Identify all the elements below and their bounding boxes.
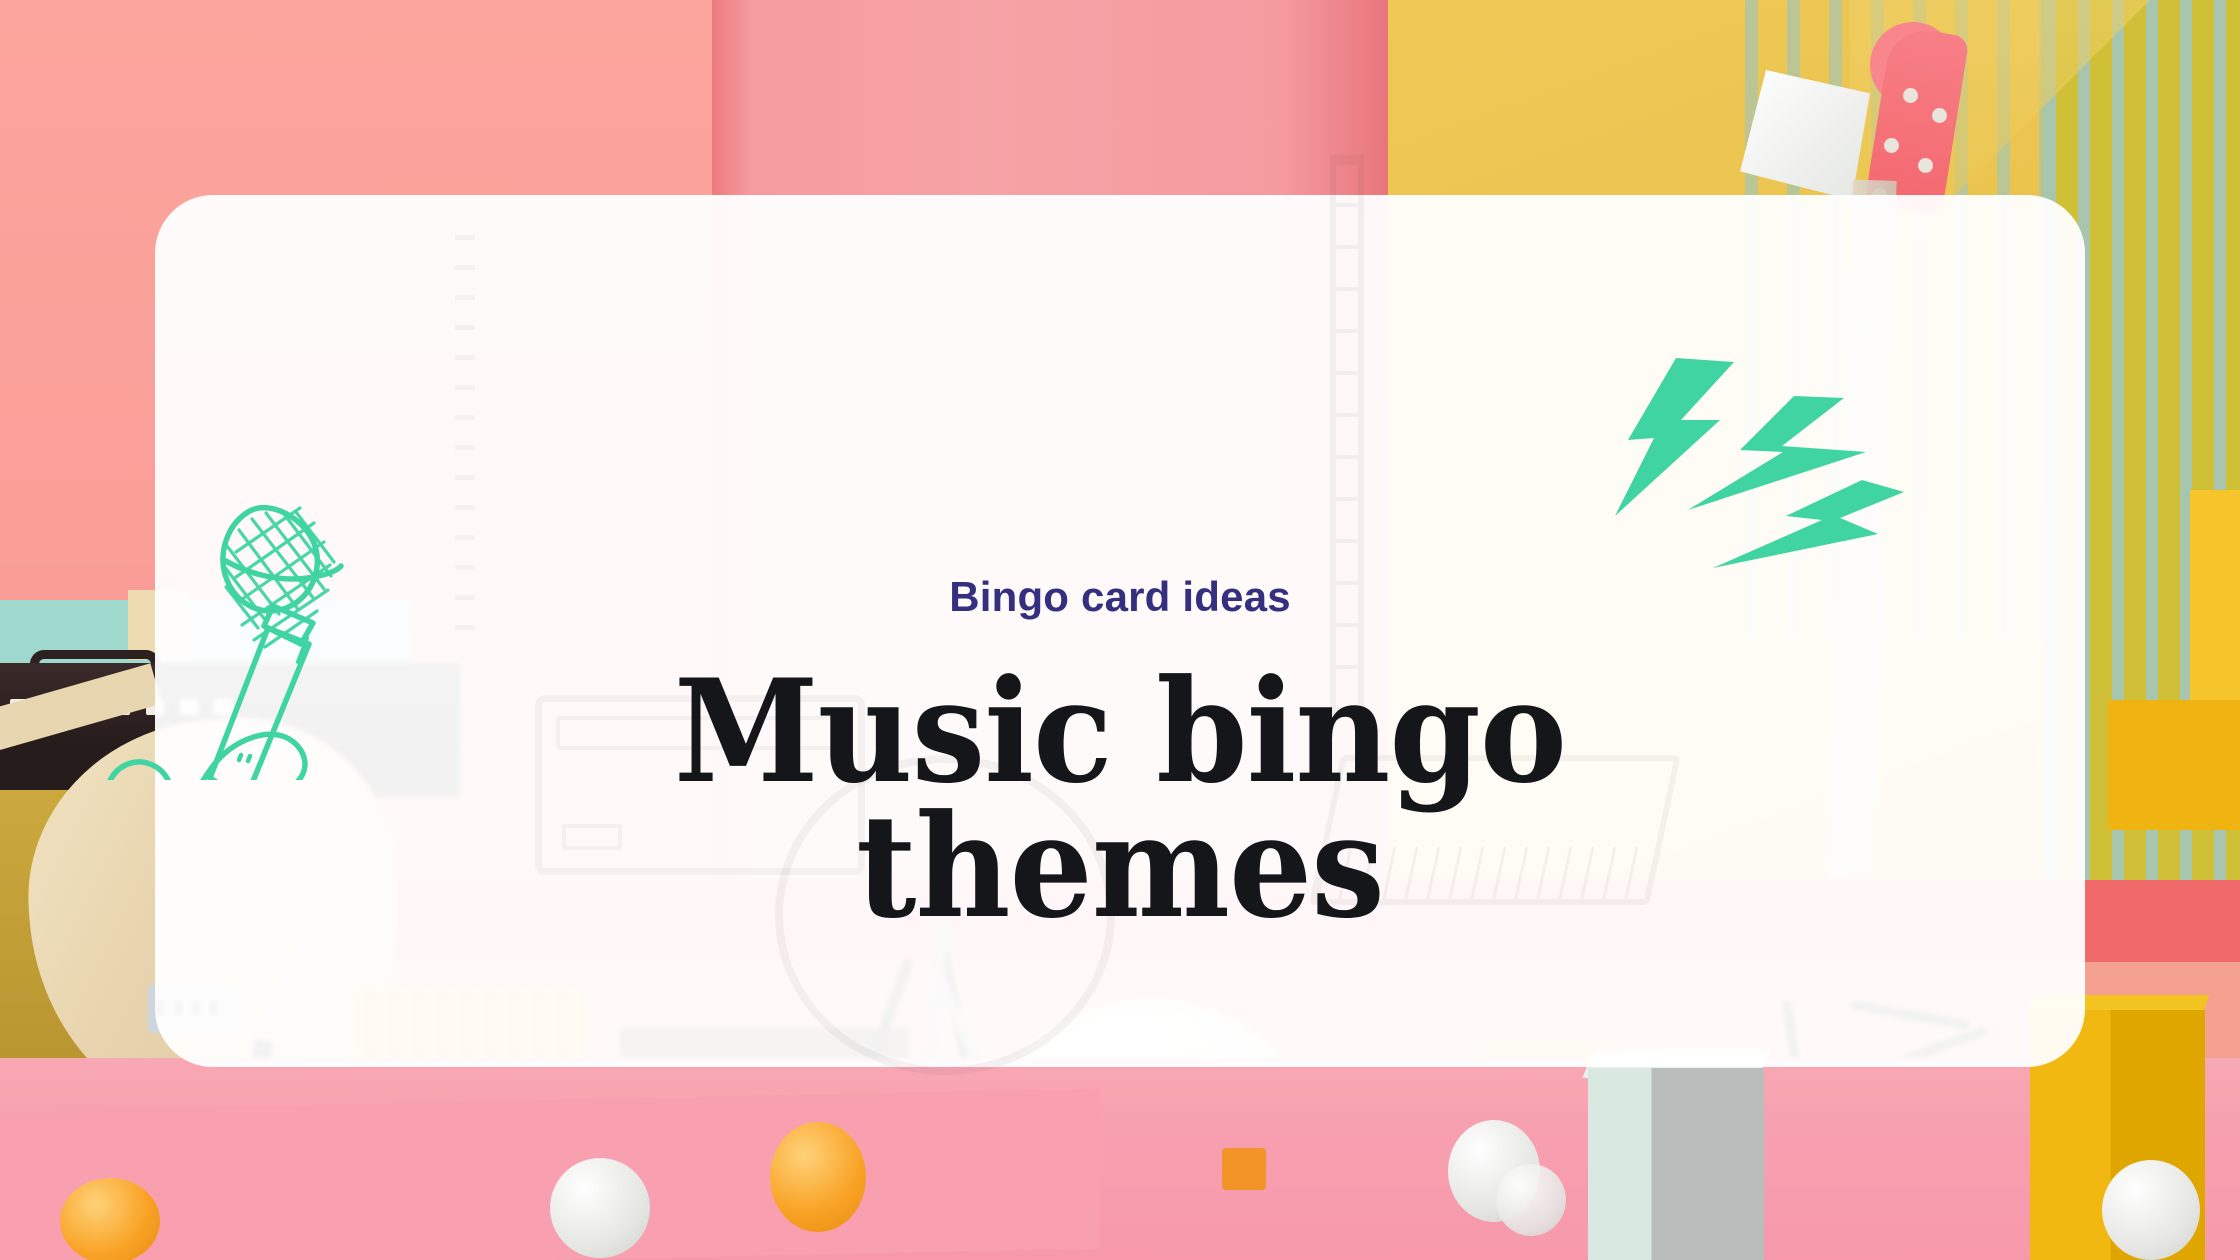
mint-cube [1588, 1068, 1764, 1260]
white-sphere [550, 1158, 650, 1258]
white-sphere [2102, 1160, 2200, 1260]
microphone-icon [100, 420, 520, 780]
lightning-bolt-3 [1713, 480, 1904, 568]
lightning-bolt-1 [1615, 358, 1734, 516]
tuning-peg [1932, 108, 1947, 123]
tuning-peg [1918, 158, 1933, 173]
ghost-guitar-neck [1330, 155, 1364, 715]
orange-sphere [60, 1178, 160, 1260]
orange-sphere [770, 1122, 866, 1232]
yellow-box-upper-right [2190, 490, 2240, 730]
page-title-line-2: themes [232, 800, 2008, 935]
yellow-ledge-right [2108, 700, 2240, 830]
floor-front-plane [0, 1088, 1100, 1260]
tuning-peg [1903, 88, 1918, 103]
lightning-bolt-icon [1590, 340, 1930, 600]
tuning-peg [1884, 138, 1899, 153]
orange-block [1222, 1148, 1266, 1190]
white-sphere [1496, 1164, 1566, 1236]
